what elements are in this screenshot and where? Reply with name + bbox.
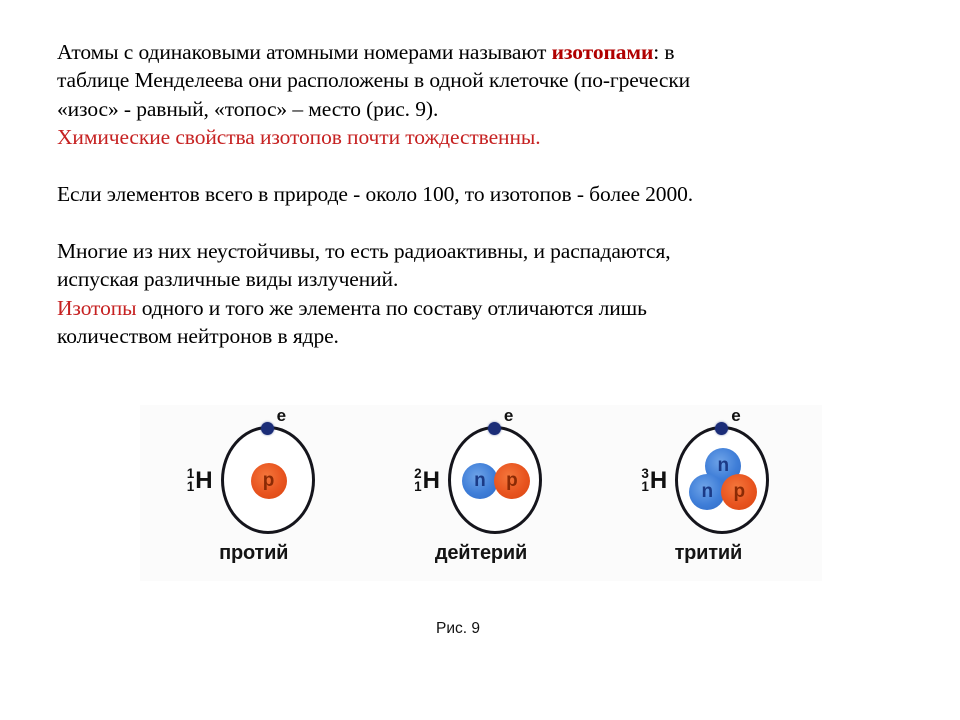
- electron-label: e: [277, 406, 286, 426]
- paragraph-2: Если элементов всего в природе - около 1…: [57, 180, 917, 208]
- text-line: Атомы с одинаковыми атомными номерами на…: [57, 40, 674, 64]
- proton-particle: p: [494, 463, 530, 499]
- atomic-number: 1: [414, 481, 422, 493]
- atom-row: 2 1 H e n p: [414, 422, 548, 540]
- text-line: Изотопы одного и того же элемента по сос…: [57, 296, 647, 320]
- atomic-number: 1: [641, 481, 649, 493]
- isotope-numbers: 2 1: [414, 468, 422, 493]
- electron-orbit-wrap: e p: [217, 422, 321, 540]
- text-line: количеством нейтронов в ядре.: [57, 324, 339, 348]
- text-run: Атомы с одинаковыми атомными номерами на…: [57, 40, 552, 64]
- atom-name-deuterium: дейтерий: [435, 542, 527, 565]
- paragraph-1: Атомы с одинаковыми атомными номерами на…: [57, 38, 917, 152]
- atom-name-tritium: тритий: [675, 542, 743, 565]
- text-line: Если элементов всего в природе - около 1…: [57, 182, 693, 206]
- isotope-symbol-tritium: 3 1 H: [641, 468, 667, 493]
- electron-dot-icon: [488, 422, 501, 435]
- atom-diagram-tritium: 3 1 H e n n p: [641, 422, 775, 565]
- proton-particle: p: [251, 463, 287, 499]
- keyword-izotopami: изотопами: [552, 40, 654, 64]
- neutron-label: n: [701, 481, 713, 503]
- neutron-particle: n: [689, 474, 725, 510]
- proton-particle: p: [721, 474, 757, 510]
- atomic-number: 1: [187, 481, 195, 493]
- electron-label: e: [731, 406, 740, 426]
- text-line-highlight: Химические свойства изотопов почти тожде…: [57, 125, 541, 149]
- element-symbol: H: [650, 469, 667, 493]
- figure-caption-wrap: Рис. 9: [0, 620, 960, 638]
- proton-label: p: [733, 481, 745, 503]
- keyword-izotopy: Изотопы: [57, 296, 136, 320]
- atom-name-protium: протий: [219, 542, 288, 565]
- neutron-particle: n: [462, 463, 498, 499]
- text-run: одного и того же элемента по составу отл…: [136, 296, 646, 320]
- atom-row: 1 1 H e p: [187, 422, 321, 540]
- text-line: Многие из них неустойчивы, то есть радио…: [57, 239, 671, 263]
- paragraph-3: Многие из них неустойчивы, то есть радио…: [57, 237, 917, 351]
- element-symbol: H: [195, 469, 212, 493]
- electron-orbit-wrap: e n n p: [671, 422, 775, 540]
- neutron-label: n: [717, 455, 729, 477]
- electron-label: e: [504, 406, 513, 426]
- text-line: испуская различные виды излучений.: [57, 267, 398, 291]
- slide-canvas: Атомы с одинаковыми атомными номерами на…: [0, 0, 960, 720]
- text-run: : в: [653, 40, 674, 64]
- electron-dot-icon: [715, 422, 728, 435]
- figure-caption: Рис. 9: [436, 620, 480, 637]
- isotope-numbers: 3 1: [641, 468, 649, 493]
- text-line: «изос» - равный, «топос» – место (рис. 9…: [57, 97, 438, 121]
- isotope-symbol-deuterium: 2 1 H: [414, 468, 440, 493]
- electron-orbit-wrap: e n p: [444, 422, 548, 540]
- paragraph-gap: [57, 152, 917, 180]
- atom-diagram-deuterium: 2 1 H e n p дейтерий: [414, 422, 548, 565]
- isotope-diagram-image: 1 1 H e p протий: [140, 405, 822, 581]
- paragraph-gap: [57, 208, 917, 236]
- proton-label: p: [263, 470, 275, 492]
- text-line: таблице Менделеева они расположены в одн…: [57, 68, 690, 92]
- neutron-label: n: [474, 470, 486, 492]
- isotope-symbol-protium: 1 1 H: [187, 468, 213, 493]
- proton-label: p: [506, 470, 518, 492]
- electron-dot-icon: [261, 422, 274, 435]
- atom-diagram-protium: 1 1 H e p протий: [187, 422, 321, 565]
- slide-text-body: Атомы с одинаковыми атомными номерами на…: [57, 38, 917, 350]
- atom-row: 3 1 H e n n p: [641, 422, 775, 540]
- element-symbol: H: [423, 469, 440, 493]
- isotope-numbers: 1 1: [187, 468, 195, 493]
